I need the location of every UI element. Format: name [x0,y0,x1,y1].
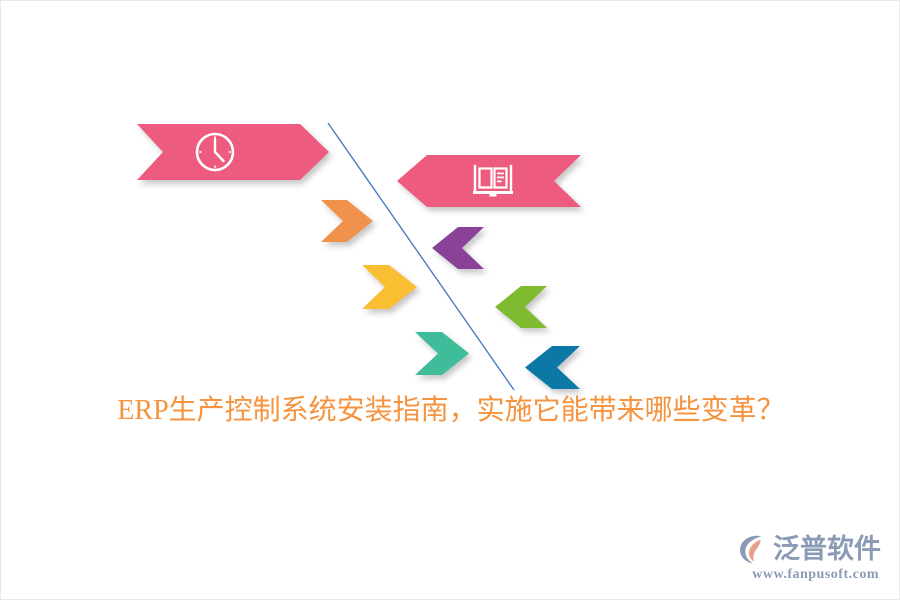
banner-clock [137,124,329,180]
decorative-graphic [1,1,900,401]
slide-canvas: ERP生产控制系统安装指南，实施它能带来哪些变革？ 泛普软件 www.fanpu… [0,0,900,600]
chevron-blue [525,346,580,389]
banner-book [397,155,581,207]
brand-url: www.fanpusoft.com [721,567,881,583]
chevron-green [495,286,547,328]
chevron-orange [321,200,373,242]
chevron-purple [432,227,484,269]
fanpu-logo-icon [736,532,770,566]
chevron-yellow [362,265,417,309]
brand-watermark: 泛普软件 www.fanpusoft.com [721,531,881,587]
brand-name: 泛普软件 [773,532,881,566]
page-title: ERP生产控制系统安装指南，实施它能带来哪些变革？ [1,393,900,429]
chevron-teal [415,332,469,375]
